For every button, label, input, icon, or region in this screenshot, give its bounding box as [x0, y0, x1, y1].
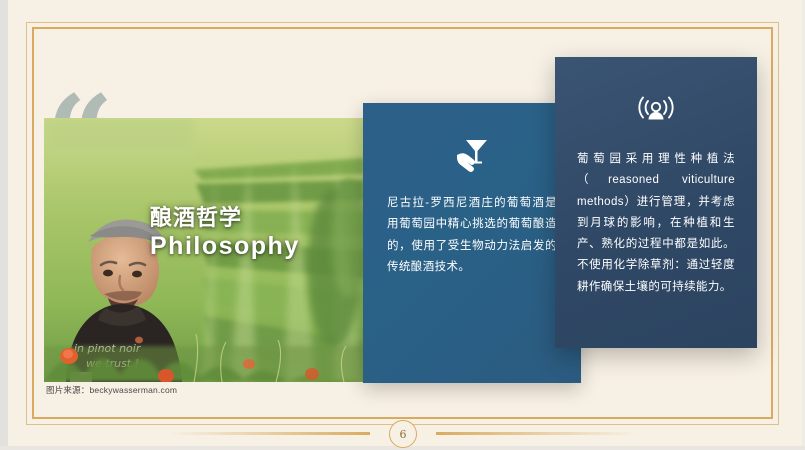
info-card-winemaking[interactable]: 尼古拉-罗西尼酒庄的葡萄酒是用葡萄园中精心挑选的葡萄酿造的，使用了受生物动力法启…: [363, 103, 581, 383]
footer-rule-left: [170, 432, 370, 435]
hero-photo: in pinot noir we trust !: [44, 118, 364, 382]
broadcast-signal-icon: [555, 89, 757, 135]
info-card-winemaking-text: 尼古拉-罗西尼酒庄的葡萄酒是用葡萄园中精心挑选的葡萄酿造的，使用了受生物动力法启…: [387, 193, 557, 278]
info-card-viticulture[interactable]: 葡萄园采用理性种植法（reasoned viticulture methods）…: [555, 57, 757, 348]
photo-source-caption: 图片来源：beckywasserman.com: [46, 384, 177, 396]
left-gutter: [0, 0, 8, 450]
hand-holding-wine-glass-icon: [363, 133, 581, 181]
page-number-badge: 6: [389, 420, 417, 448]
footer-rule-right: [436, 432, 636, 435]
slide-canvas: “: [0, 0, 805, 450]
page-footer: 6: [0, 420, 805, 446]
info-card-viticulture-text: 葡萄园采用理性种植法（reasoned viticulture methods）…: [577, 149, 735, 298]
vineyard-photo-illustration: in pinot noir we trust !: [44, 118, 364, 382]
